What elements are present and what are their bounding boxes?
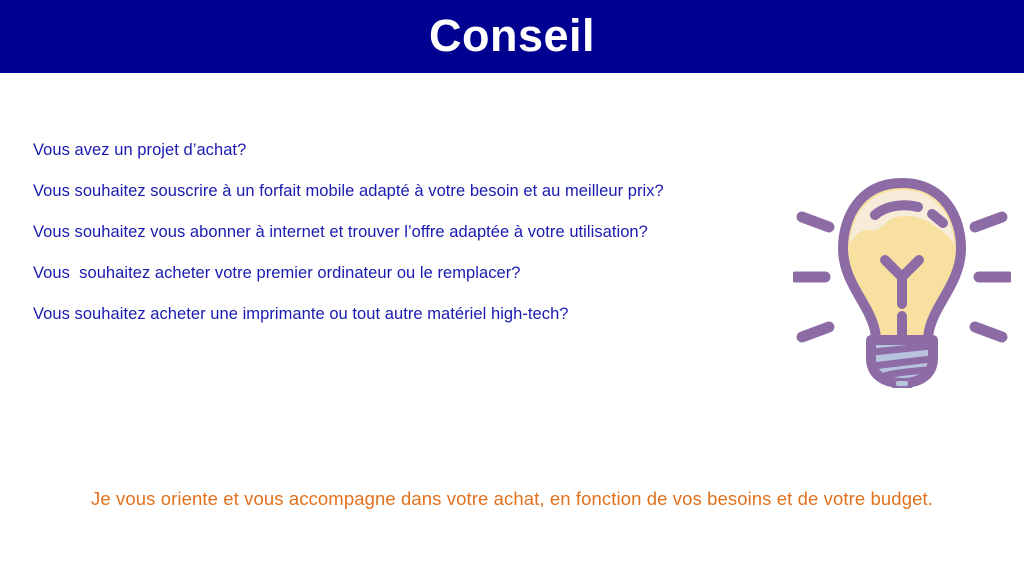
lightbulb-rays-right <box>975 217 1009 337</box>
lightbulb-illustration <box>793 176 1011 388</box>
tagline-text: Je vous oriente et vous accompagne dans … <box>0 486 1024 512</box>
lightbulb-rays-left <box>795 217 829 337</box>
question-line: Vous souhaitez acheter votre premier ord… <box>33 253 823 294</box>
question-line: Vous souhaitez acheter une imprimante ou… <box>33 294 823 335</box>
question-line: Vous avez un projet d’achat? <box>33 130 823 171</box>
question-line: Vous souhaitez souscrire à un forfait mo… <box>33 171 823 212</box>
question-line: Vous souhaitez vous abonner à internet e… <box>33 212 823 253</box>
lightbulb-contact-highlight <box>896 381 908 386</box>
page-title: Conseil <box>429 13 595 58</box>
slide-header-band: Conseil <box>0 0 1024 73</box>
lightbulb-icon <box>793 176 1011 388</box>
question-list: Vous avez un projet d’achat? Vous souhai… <box>33 130 823 335</box>
